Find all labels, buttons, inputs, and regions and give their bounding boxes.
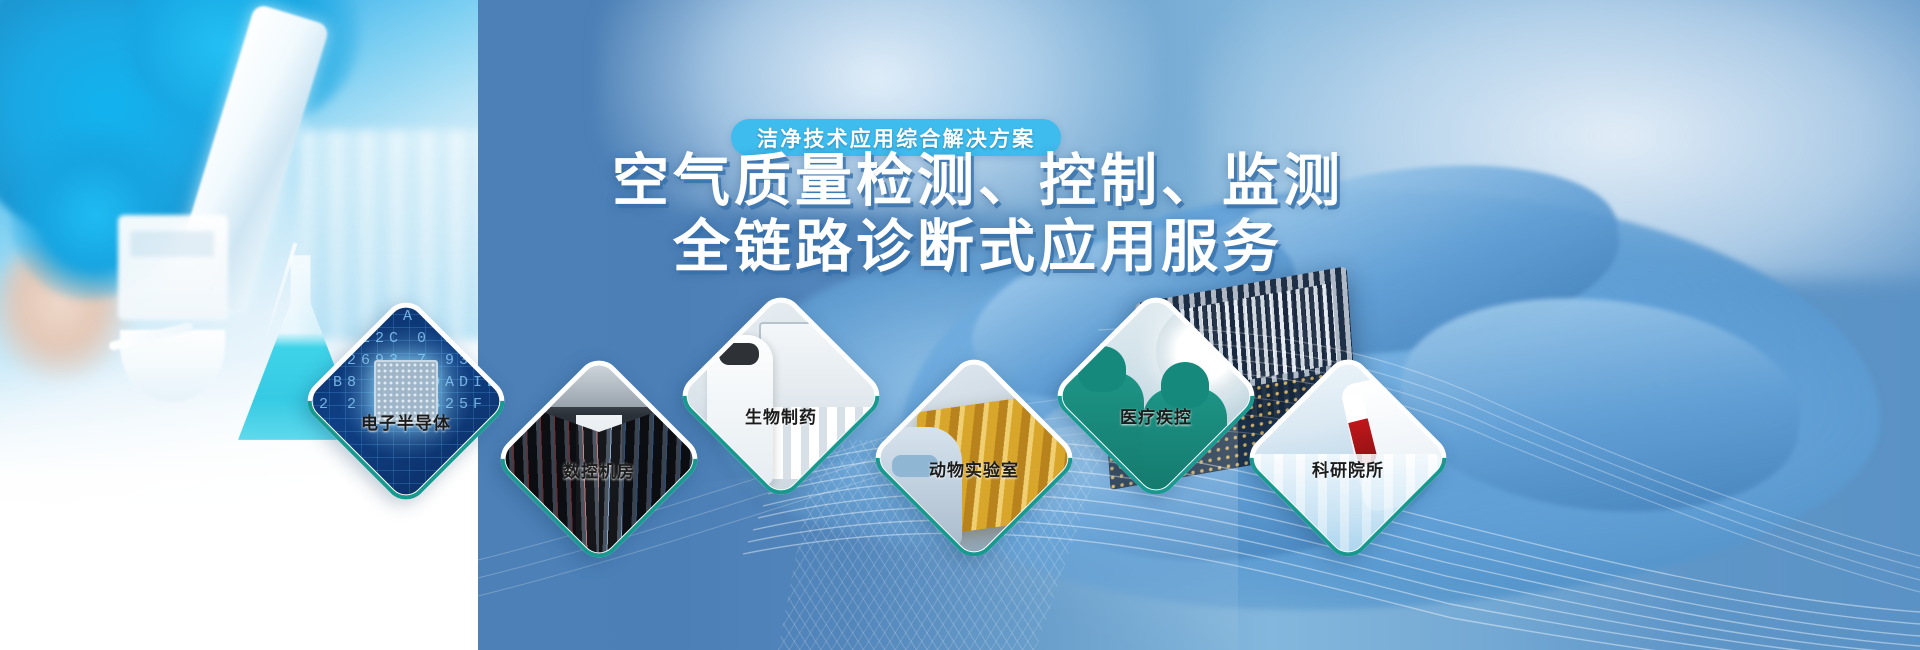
industry-card-label: 医疗疾控 — [1056, 403, 1256, 428]
industry-card-label: 动物实验室 — [874, 456, 1074, 481]
industry-card-label: 生物制药 — [681, 403, 881, 428]
surgery-medical-icon — [1056, 296, 1257, 497]
industry-card-label: 科研院所 — [1248, 456, 1448, 481]
industry-card-label: 数控机房 — [499, 457, 699, 482]
industry-card-biopharma[interactable] — [674, 289, 889, 504]
industry-card-medical-cdc[interactable] — [1049, 289, 1264, 504]
hero-banner: 洁净技术应用综合解决方案 空气质量检测、控制、监测 全链路诊断式应用服务 E2 … — [0, 0, 1920, 650]
circuit-board-chip-icon: E2 F D A 5926 7 8 E2C 0 E B8 3 82693 7 9… — [306, 301, 507, 502]
industry-card-label: 电子半导体 — [306, 409, 506, 434]
cleanroom-worker-icon — [878, 427, 962, 547]
card-image-frame — [1056, 296, 1257, 497]
ceiling-icon — [499, 359, 700, 407]
card-image-frame: E2 F D A 5926 7 8 E2C 0 E B8 3 82693 7 9… — [306, 301, 507, 502]
industry-card-electronic-semiconductor[interactable]: E2 F D A 5926 7 8 E2C 0 E B8 3 82693 7 9… — [299, 294, 514, 509]
industry-card-row: E2 F D A 5926 7 8 E2C 0 E B8 3 82693 7 9… — [0, 0, 1920, 650]
pharma-cleanroom-icon — [681, 296, 882, 497]
card-image-frame — [681, 296, 882, 497]
